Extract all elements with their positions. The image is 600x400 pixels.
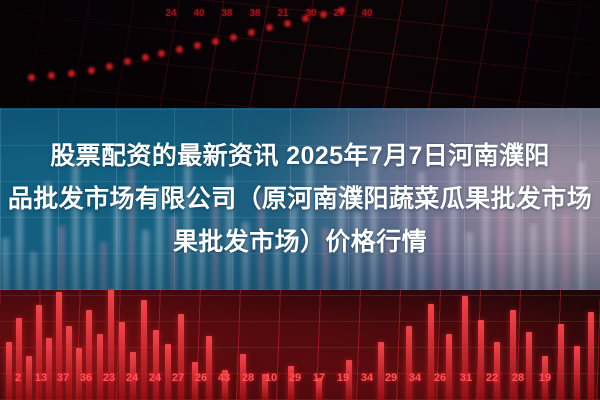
axis-tick-label: 27 — [333, 8, 344, 19]
axis-tick-label: 30 — [305, 8, 316, 19]
candlestick-bar — [378, 342, 384, 400]
trend-marker-dot — [106, 63, 113, 70]
axis-tick-label: 27 — [172, 372, 184, 384]
trend-marker-dot — [194, 42, 201, 49]
axis-tick-label: 28 — [512, 372, 524, 384]
headline-line-2: 品批发市场有限公司（原河南濮阳蔬菜瓜果批发市场 — [8, 179, 592, 220]
axis-tick-label: 40 — [361, 8, 372, 19]
candlestick-bar — [446, 334, 452, 400]
axis-tick-label: 21 — [277, 8, 288, 19]
axis-tick-label: 24 — [149, 372, 161, 384]
candlestick-bar — [153, 330, 159, 400]
axis-tick-label: 34 — [409, 372, 421, 384]
candlestick-bar — [206, 336, 212, 400]
headline-block: 股票配资的最新资讯 2025年7月7日河南濮阳 品批发市场有限公司（原河南濮阳蔬… — [209, 108, 391, 290]
candlestick-bar — [558, 324, 564, 400]
axis-tick-label: 2 — [15, 372, 21, 384]
axis-tick-label: 24 — [165, 8, 176, 19]
headline-line-3: 果批发市场）价格行情 — [173, 222, 427, 263]
candlestick-bar — [478, 320, 484, 400]
axis-tick-label: 34 — [361, 372, 373, 384]
axis-tick-label: 36 — [80, 372, 92, 384]
axis-tick-label: 26 — [434, 372, 446, 384]
axis-tick-label: 24 — [126, 372, 138, 384]
trend-marker-dot — [28, 74, 35, 81]
trend-marker-dot — [266, 24, 273, 31]
trend-marker-dot — [88, 67, 95, 74]
axis-tick-label: 23 — [103, 372, 115, 384]
trend-marker-dot — [68, 70, 75, 77]
axis-tick-label: 26 — [195, 372, 207, 384]
trend-marker-dot — [158, 50, 165, 57]
axis-tick-label: 13 — [35, 372, 47, 384]
candlestick-bar — [6, 342, 12, 400]
axis-ticks-upper: 2440383821302740 — [0, 8, 600, 24]
axis-tick-label: 31 — [460, 372, 472, 384]
trend-marker-dot — [176, 46, 183, 53]
axis-tick-label: 40 — [193, 8, 204, 19]
axis-ticks-lower: 2133736232424272643281029171934293426312… — [0, 372, 600, 388]
trend-marker-dot — [48, 72, 55, 79]
axis-tick-label: 28 — [242, 372, 254, 384]
axis-tick-label: 17 — [313, 372, 325, 384]
candlestick-bar — [119, 322, 125, 400]
axis-tick-label: 10 — [265, 372, 277, 384]
axis-tick-label: 22 — [486, 372, 498, 384]
axis-tick-label: 37 — [57, 372, 69, 384]
candlestick-bar — [46, 338, 52, 400]
trend-marker-dot — [230, 34, 237, 41]
axis-tick-label: 29 — [289, 372, 301, 384]
candlestick-bar — [494, 342, 500, 400]
trend-marker-dot — [124, 58, 131, 65]
axis-tick-label: 29 — [385, 372, 397, 384]
trend-marker-dot — [212, 38, 219, 45]
news-thumbnail-banner: 2440383821302740 21337362324242726432810… — [0, 0, 600, 400]
axis-tick-label: 38 — [221, 8, 232, 19]
headline-line-1: 股票配资的最新资讯 2025年7月7日河南濮阳 — [50, 136, 550, 177]
axis-tick-label: 19 — [337, 372, 349, 384]
trend-marker-dot — [248, 29, 255, 36]
candlestick-bar — [526, 332, 532, 400]
axis-tick-label: 38 — [249, 8, 260, 19]
candlestick-bar — [406, 326, 412, 400]
candlestick-bar — [66, 326, 72, 400]
axis-tick-label: 19 — [539, 372, 551, 384]
candlestick-bar — [97, 334, 103, 400]
trend-marker-dot — [142, 54, 149, 61]
axis-tick-label: 43 — [218, 372, 230, 384]
